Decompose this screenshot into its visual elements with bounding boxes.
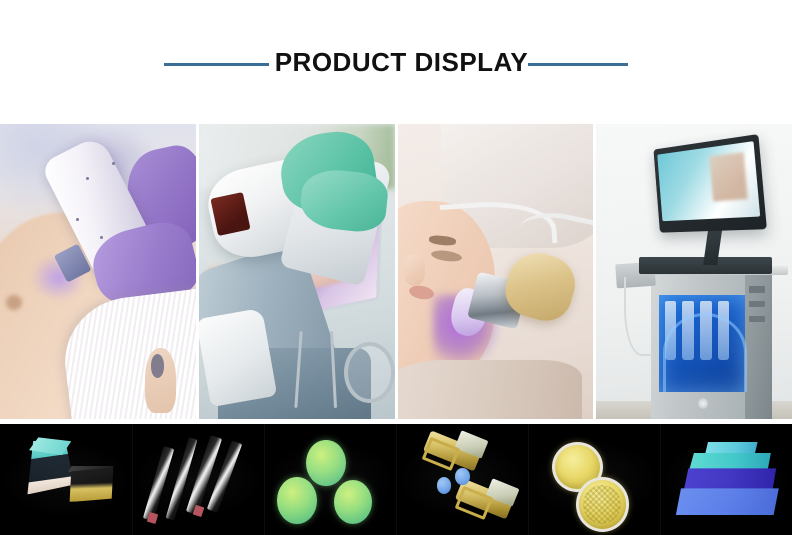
navel-detail — [6, 295, 22, 310]
component-photo-crystal-rods[interactable]: Set of polished crystal laser rods and b… — [132, 424, 264, 535]
gallery-photo-hydrafacial-machine[interactable]: Hydrafacial machine with tilted touchscr… — [596, 124, 792, 419]
gallery-photo-laser-hair-removal[interactable]: Laser hair removal treatment with white … — [0, 124, 196, 419]
treatment-towel — [398, 360, 582, 419]
monitor-screen — [658, 141, 761, 221]
component-photo-coated-plates[interactable]: Stack of coated optical plates in cyan, … — [660, 424, 792, 535]
title-rule-right — [528, 63, 628, 66]
handpiece-screw-dot — [100, 236, 103, 239]
component-photo-yellow-filters[interactable]: Two round yellow coated filter discs in … — [528, 424, 660, 535]
green-filter-disc — [277, 477, 317, 524]
header-inner: PRODUCT DISPLAY — [0, 49, 792, 75]
machine-knob — [698, 398, 708, 408]
components-strip: Optical prisms with cyan coated facet an… — [0, 424, 792, 535]
screen-content-image — [709, 151, 748, 201]
handpiece-holder-ring — [344, 342, 395, 403]
green-filter-disc — [334, 480, 372, 524]
fingernail — [151, 354, 165, 378]
green-filter-disc — [306, 440, 346, 487]
tube-swirl — [663, 313, 747, 393]
nose — [403, 254, 425, 286]
gallery-photo-ipl-handpiece[interactable]: Technician in mint gloves holding IPL ha… — [199, 124, 395, 419]
component-photo-green-filters[interactable]: Three round green optical filter discs a… — [264, 424, 396, 535]
coated-plate-purple — [684, 468, 776, 490]
coated-plate-blue — [676, 488, 779, 515]
product-gallery-row: Laser hair removal treatment with white … — [0, 124, 792, 419]
yellow-filter-disc-textured — [576, 477, 630, 532]
component-photo-prisms[interactable]: Optical prisms with cyan coated facet an… — [0, 424, 132, 535]
rod-end-face — [147, 512, 159, 524]
product-display-page: PRODUCT DISPLAY Laser hair removal treat… — [0, 0, 792, 535]
machine-monitor — [653, 134, 766, 232]
page-header: PRODUCT DISPLAY — [0, 0, 792, 124]
gold-edge-beamsplitter — [68, 468, 114, 503]
page-title: PRODUCT DISPLAY — [275, 49, 529, 75]
machine-vent — [749, 286, 765, 292]
coated-plate-teal — [689, 453, 771, 471]
title-rule-left — [164, 63, 269, 66]
rod-end-face — [193, 505, 205, 517]
machine-vent — [749, 301, 765, 307]
blue-lens — [437, 477, 452, 494]
component-photo-gold-barrels[interactable]: Two gold mounted barrel assemblies with … — [396, 424, 528, 535]
machine-vent — [749, 316, 765, 322]
blue-lens — [455, 468, 470, 485]
gallery-photo-facial-therapy[interactable]: Woman receiving facial light therapy wit… — [398, 124, 594, 419]
